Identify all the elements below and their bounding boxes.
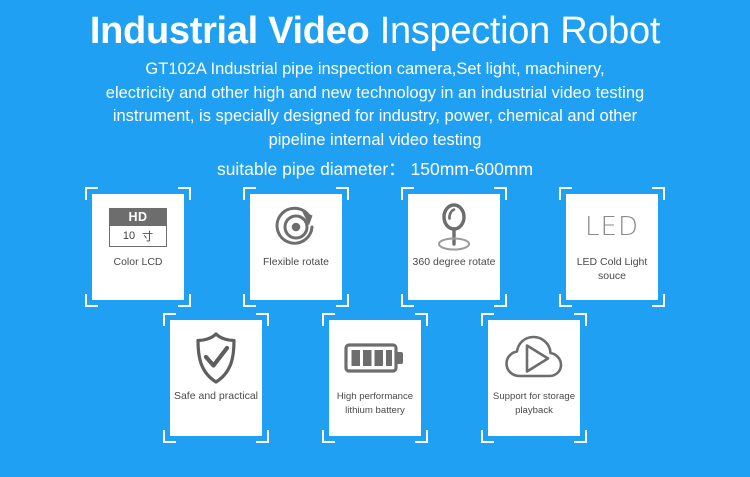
description-line-4: pipeline internal video testing [18, 129, 732, 153]
feature-card-flexible-rotate[interactable]: Flexible rotate [250, 194, 342, 300]
page-title: Industrial Video Inspection Robot [0, 8, 750, 54]
page-title-bold: Industrial Video [90, 10, 370, 52]
cloud-play-icon [503, 333, 565, 383]
description-line-3: instrument, is specially designed for in… [18, 105, 732, 129]
flexible-rotate-icon [269, 200, 323, 254]
icon-container [250, 198, 342, 256]
camera-head-360-icon [430, 200, 478, 254]
icon-container [488, 326, 580, 390]
shield-check-icon [192, 330, 240, 386]
feature-card-color-lcd[interactable]: HD 10 寸 Color LCD [92, 194, 184, 300]
icon-container: HD 10 寸 [92, 198, 184, 256]
hd-badge-label: HD [110, 209, 166, 226]
feature-row-1: HD 10 寸 Color LCD [0, 194, 750, 300]
feature-card-lithium-battery[interactable]: High performance lithium battery [329, 320, 421, 436]
feature-label: LED Cold Light souce [566, 256, 658, 283]
pipe-diameter-spec: suitable pipe diameter： 150mm-600mm [0, 152, 750, 182]
description-line-1: GT102A Industrial pipe inspection camera… [18, 58, 732, 82]
feature-row-2: Safe and practical High performance lith… [0, 320, 750, 436]
feature-label: 360 degree rotate [410, 256, 499, 270]
icon-container: LED [566, 198, 658, 256]
hd-lcd-icon: HD 10 寸 [109, 208, 167, 247]
battery-icon [344, 341, 406, 375]
feature-card-360-rotate[interactable]: 360 degree rotate [408, 194, 500, 300]
feature-card-storage-playback[interactable]: Support for storage playback [488, 320, 580, 436]
icon-container [170, 326, 262, 390]
feature-label: Flexible rotate [260, 256, 332, 270]
feature-label: High performance lithium battery [329, 390, 421, 417]
feature-label: Safe and practical [171, 390, 261, 404]
screen-size-unit: 寸 [142, 228, 153, 244]
feature-card-led-light[interactable]: LED LED Cold Light souce [566, 194, 658, 300]
feature-label: Color LCD [110, 256, 165, 270]
product-description: GT102A Industrial pipe inspection camera… [0, 54, 750, 152]
icon-container [329, 326, 421, 390]
page-title-light: Inspection Robot [369, 10, 660, 52]
icon-container [408, 198, 500, 256]
description-line-2: electricity and other high and new techn… [18, 82, 732, 106]
feature-card-safe-practical[interactable]: Safe and practical [170, 320, 262, 436]
header-banner: Industrial Video Inspection Robot GT102A… [0, 0, 750, 182]
led-wordmark-icon: LED [585, 212, 639, 242]
screen-size-value: 10 [123, 230, 135, 242]
feature-label: Support for storage playback [488, 390, 580, 417]
